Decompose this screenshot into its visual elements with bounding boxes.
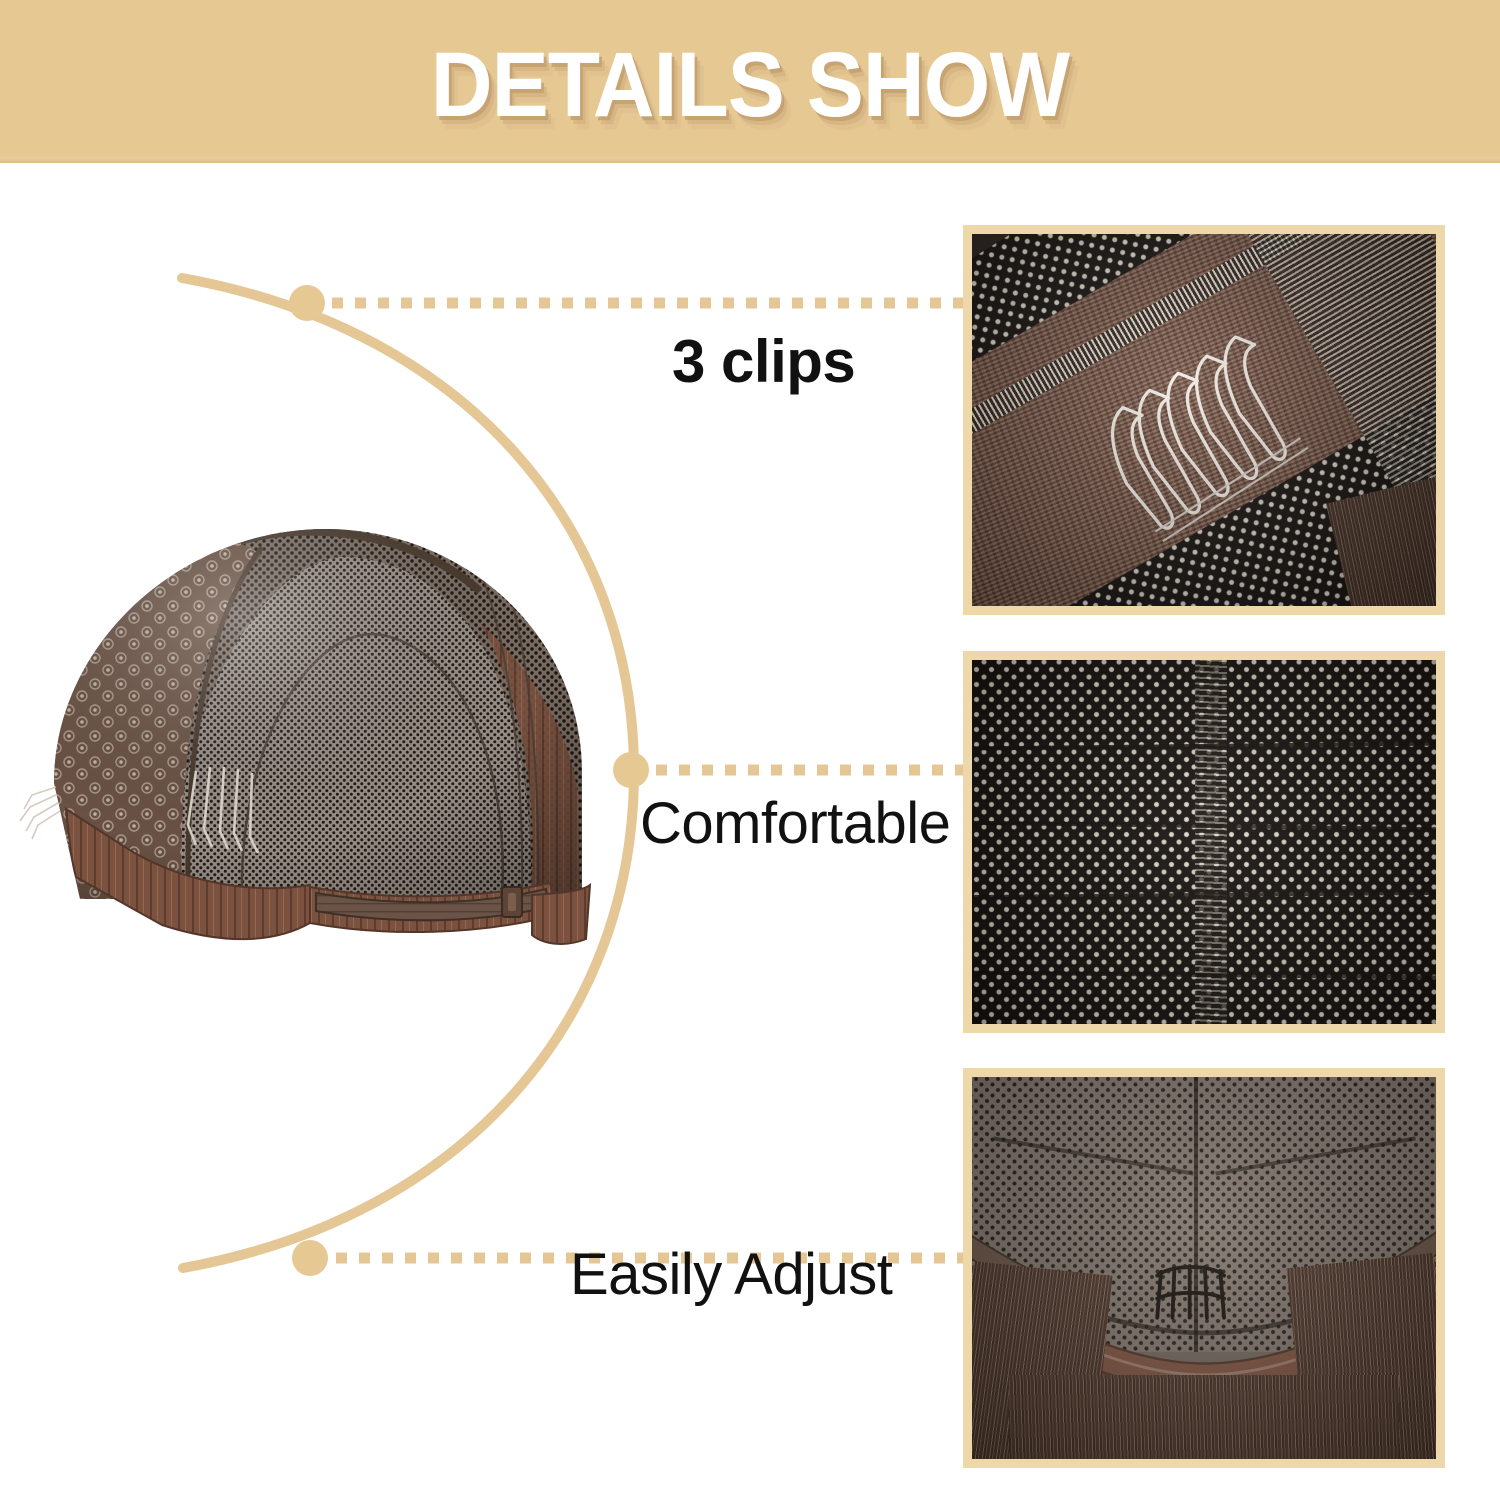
page-title: DETAILS SHOW bbox=[53, 0, 1448, 163]
callout-label-comfortable: Comfortable bbox=[640, 795, 950, 853]
lace-fray-threads bbox=[20, 787, 60, 839]
photo-breathable-mesh bbox=[963, 651, 1445, 1033]
cap-nape-tab bbox=[532, 885, 590, 944]
callout-dot-adjust bbox=[292, 1240, 328, 1276]
infographic-page: DETAILS SHOW 3 clips Comfortable Easily … bbox=[0, 0, 1500, 1500]
callout-label-clips: 3 clips bbox=[672, 332, 855, 392]
photo-adjustable-straps bbox=[963, 1068, 1445, 1468]
callout-dot-clips bbox=[289, 285, 325, 321]
strap-buckle-slot bbox=[508, 893, 516, 911]
photo3-vignette bbox=[972, 1077, 1436, 1459]
callout-label-adjust: Easily Adjust bbox=[570, 1246, 892, 1304]
header-banner: DETAILS SHOW bbox=[0, 0, 1500, 163]
photo1-vignette bbox=[972, 234, 1436, 606]
photo2-vignette bbox=[972, 660, 1436, 1024]
photo-clips-closeup bbox=[963, 225, 1445, 615]
wig-cap-photo bbox=[10, 495, 620, 965]
